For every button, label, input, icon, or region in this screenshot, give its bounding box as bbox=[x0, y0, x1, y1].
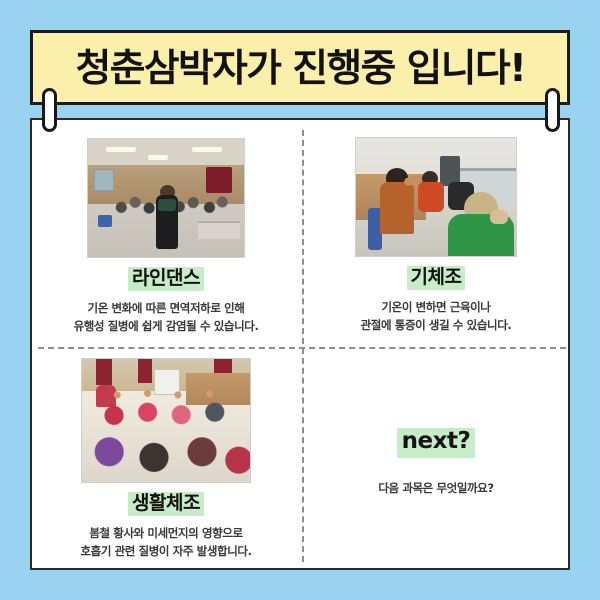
section-next: next? 다음 과목은 무엇일까요? bbox=[302, 349, 570, 575]
content-card: 라인댄스 기온 변화에 따른 면역저하로 인해 유행성 질병에 쉽게 감염될 수… bbox=[30, 118, 570, 570]
gichejo-caption: 기온이 변하면 근육이나 관절에 통증이 생길 수 있습니다. bbox=[355, 299, 518, 335]
gichejo-photo bbox=[355, 137, 517, 257]
saenghwalchejo-caption: 봄철 황사와 미세먼지의 영향으로 호흡기 관련 질병이 자주 발생합니다. bbox=[74, 525, 257, 561]
gichejo-photo-art bbox=[356, 138, 516, 256]
saenghwalchejo-photo-art bbox=[82, 359, 250, 482]
linedance-photo bbox=[87, 138, 245, 258]
pin-clip-right-icon bbox=[545, 88, 560, 132]
next-title: next? bbox=[397, 428, 476, 457]
saenghwalchejo-title: 생활체조 bbox=[128, 492, 204, 516]
poster-root: 청춘삼박자가 진행중 입니다! bbox=[0, 0, 600, 600]
pin-clip-left-icon bbox=[42, 88, 57, 132]
saenghwalchejo-photo bbox=[81, 358, 251, 483]
linedance-caption: 기온 변화에 따른 면역저하로 인해 유행성 질병에 쉽게 감염될 수 있습니다… bbox=[68, 300, 265, 336]
linedance-title: 라인댄스 bbox=[128, 267, 204, 291]
page-title: 청춘삼박자가 진행중 입니다! bbox=[75, 49, 525, 87]
section-linedance: 라인댄스 기온 변화에 따른 면역저하로 인해 유행성 질병에 쉽게 감염될 수… bbox=[32, 120, 300, 346]
linedance-photo-art bbox=[88, 139, 244, 257]
section-saenghwalchejo: 생활체조 봄철 황사와 미세먼지의 영향으로 호흡기 관련 질병이 자주 발생합… bbox=[32, 349, 300, 575]
title-banner: 청춘삼박자가 진행중 입니다! bbox=[30, 30, 570, 105]
section-gichejo: 기체조 기온이 변하면 근육이나 관절에 통증이 생길 수 있습니다. bbox=[302, 120, 570, 346]
gichejo-title: 기체조 bbox=[407, 266, 466, 290]
next-caption: 다음 과목은 무엇일까요? bbox=[378, 480, 493, 496]
